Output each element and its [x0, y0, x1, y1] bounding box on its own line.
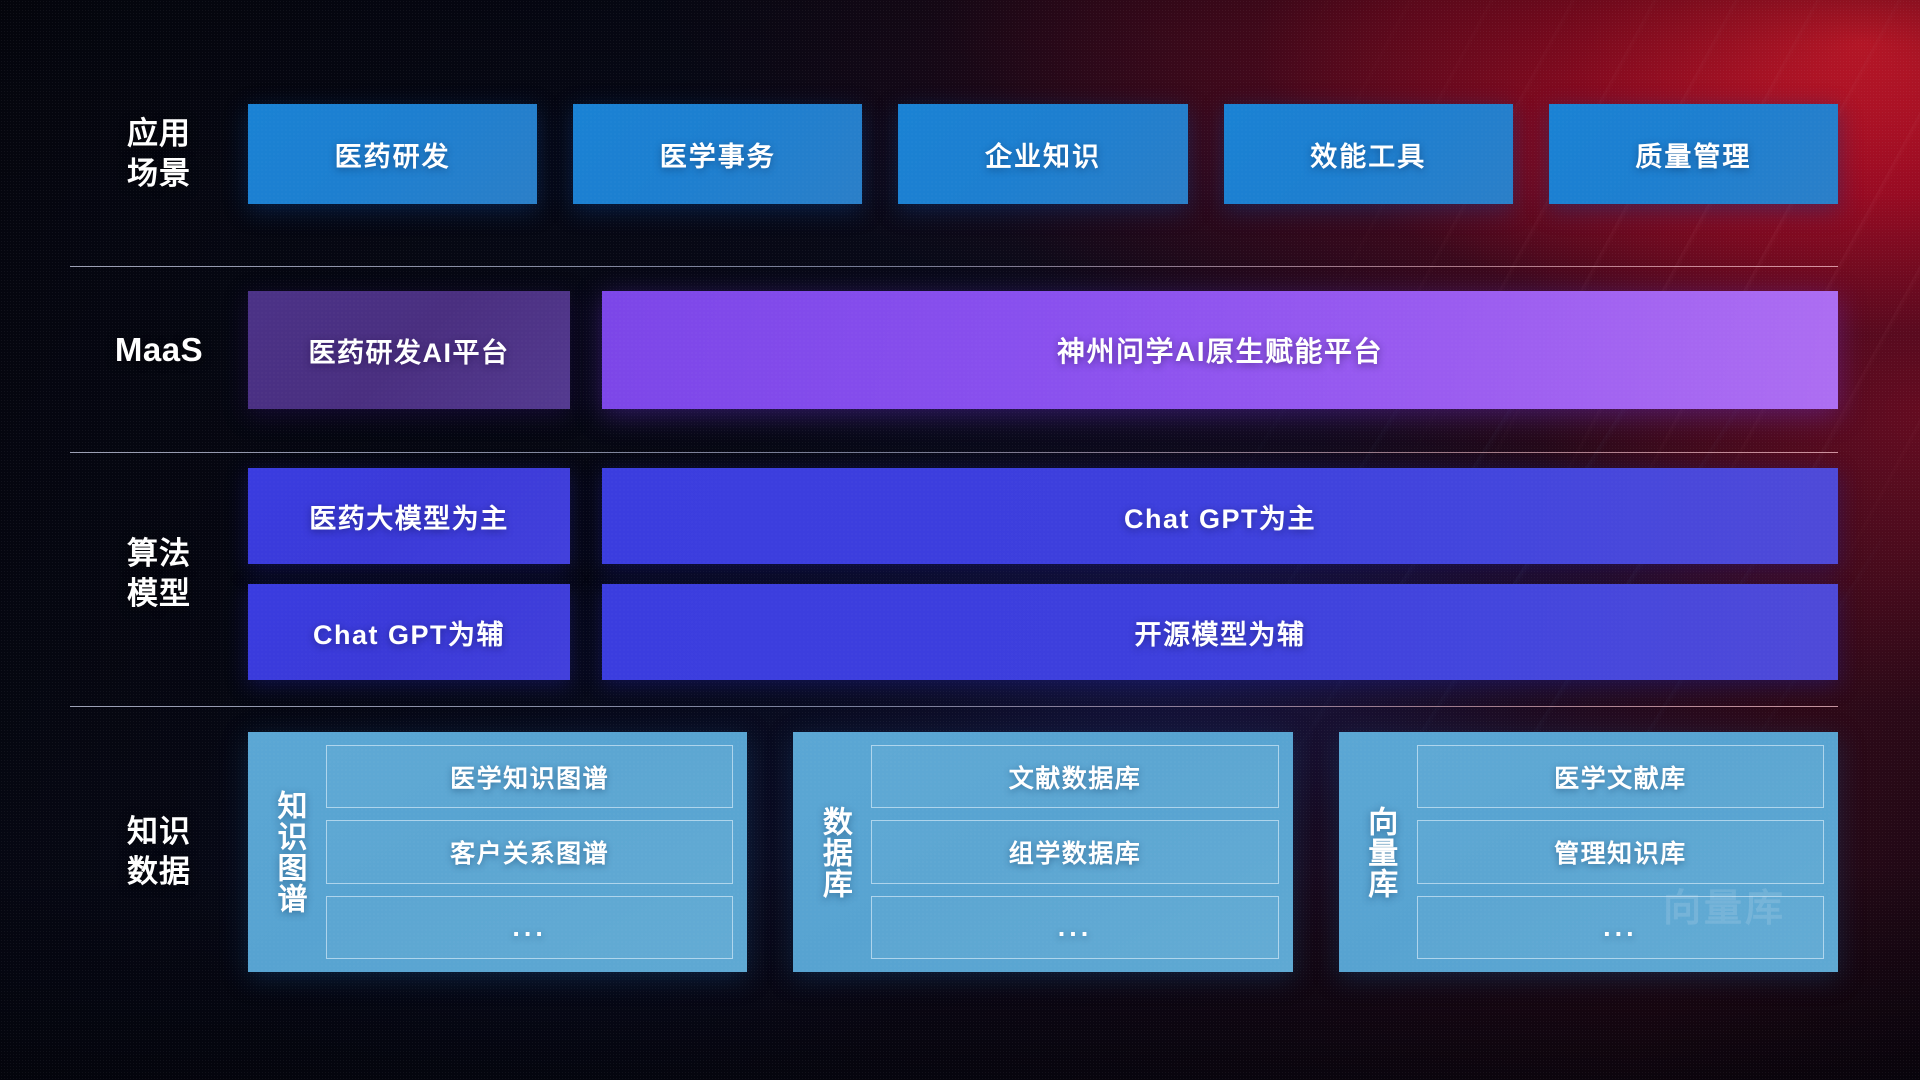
slide-canvas: 应用 场景 医药研发 医学事务 企业知识 效能工具 — [0, 0, 1920, 1080]
knowledge-item-omics-database[interactable]: 组学数据库 — [871, 820, 1278, 883]
knowledge-item-customer-relation-graph[interactable]: 客户关系图谱 — [326, 820, 733, 883]
scenario-label: 医学事务 — [660, 135, 776, 174]
row-application-scenarios: 应用 场景 医药研发 医学事务 企业知识 效能工具 — [70, 104, 1838, 204]
scenario-box-list: 医药研发 医学事务 企业知识 效能工具 质量管理 — [248, 104, 1838, 204]
algorithm-model-line-primary: 医药大模型为主 Chat GPT为主 — [248, 468, 1838, 564]
knowledge-item-more[interactable]: ... — [871, 896, 1278, 959]
algo-box-chatgpt-secondary[interactable]: Chat GPT为辅 — [248, 584, 570, 680]
knowledge-item-more[interactable]: ... — [1417, 896, 1824, 959]
row-body-maas: 医药研发AI平台 神州问学AI原生赋能平台 — [248, 291, 1838, 409]
row-label-knowledge-data: 知识 数据 — [70, 812, 248, 891]
maas-box-drug-rd-ai-platform[interactable]: 医药研发AI平台 — [248, 291, 570, 409]
knowledge-group-vector-store[interactable]: 向量库 医学文献库 管理知识库 ... 向量库 — [1339, 732, 1838, 972]
row-maas: MaaS 医药研发AI平台 神州问学AI原生赋能平台 — [70, 291, 1838, 409]
algo-label: Chat GPT为辅 — [313, 613, 505, 652]
divider-after-algorithm-models — [70, 706, 1838, 707]
knowledge-item-management-knowledge-store[interactable]: 管理知识库 — [1417, 820, 1824, 883]
knowledge-group-vertical-label: 向量库 — [1349, 745, 1411, 959]
algorithm-model-stack: 医药大模型为主 Chat GPT为主 Chat GPT为辅 开源模型为辅 — [248, 468, 1838, 680]
scenario-box-quality-management[interactable]: 质量管理 — [1549, 104, 1838, 204]
scenario-label: 质量管理 — [1635, 135, 1751, 174]
algo-label: 开源模型为辅 — [1135, 613, 1306, 652]
architecture-diagram: 应用 场景 医药研发 医学事务 企业知识 效能工具 — [0, 0, 1920, 1080]
knowledge-item-list: 医学文献库 管理知识库 ... — [1411, 745, 1824, 959]
scenario-label: 效能工具 — [1310, 135, 1426, 174]
algo-label: 医药大模型为主 — [309, 497, 509, 536]
row-algorithm-models: 算法 模型 医药大模型为主 Chat GPT为主 Chat GPT为辅 — [70, 468, 1838, 680]
scenario-box-drug-rd[interactable]: 医药研发 — [248, 104, 537, 204]
row-body-knowledge-data: 知识图谱 医学知识图谱 客户关系图谱 ... 数据库 文献数据库 组学数据库 — [248, 732, 1838, 972]
knowledge-item-list: 文献数据库 组学数据库 ... — [865, 745, 1278, 959]
knowledge-item-medical-knowledge-graph[interactable]: 医学知识图谱 — [326, 745, 733, 808]
divider-after-application-scenarios — [70, 266, 1838, 267]
scenario-label: 医药研发 — [335, 135, 451, 174]
knowledge-item-literature-database[interactable]: 文献数据库 — [871, 745, 1278, 808]
scenario-label: 企业知识 — [985, 135, 1101, 174]
scenario-box-medical-affairs[interactable]: 医学事务 — [573, 104, 862, 204]
scenario-box-efficiency-tools[interactable]: 效能工具 — [1224, 104, 1513, 204]
row-knowledge-data: 知识 数据 知识图谱 医学知识图谱 客户关系图谱 ... 数据库 — [70, 732, 1838, 972]
row-body-algorithm-models: 医药大模型为主 Chat GPT为主 Chat GPT为辅 开源模型为辅 — [248, 468, 1838, 680]
knowledge-group-knowledge-graph[interactable]: 知识图谱 医学知识图谱 客户关系图谱 ... — [248, 732, 747, 972]
divider-after-maas — [70, 452, 1838, 453]
knowledge-group-vertical-label: 知识图谱 — [258, 745, 320, 959]
knowledge-item-medical-literature-store[interactable]: 医学文献库 — [1417, 745, 1824, 808]
algo-label: Chat GPT为主 — [1124, 497, 1316, 536]
knowledge-group-list: 知识图谱 医学知识图谱 客户关系图谱 ... 数据库 文献数据库 组学数据库 — [248, 732, 1838, 972]
scenario-box-enterprise-knowledge[interactable]: 企业知识 — [898, 104, 1187, 204]
maas-label: 神州问学AI原生赋能平台 — [1057, 330, 1383, 370]
knowledge-item-more[interactable]: ... — [326, 896, 733, 959]
row-body-application-scenarios: 医药研发 医学事务 企业知识 效能工具 质量管理 — [248, 104, 1838, 204]
algorithm-model-line-secondary: Chat GPT为辅 开源模型为辅 — [248, 584, 1838, 680]
row-label-maas: MaaS — [70, 329, 248, 371]
maas-box-shenzhou-wenxue-platform[interactable]: 神州问学AI原生赋能平台 — [602, 291, 1838, 409]
maas-label: 医药研发AI平台 — [309, 331, 510, 370]
row-label-algorithm-models: 算法 模型 — [70, 534, 248, 613]
maas-platform-list: 医药研发AI平台 神州问学AI原生赋能平台 — [248, 291, 1838, 409]
knowledge-group-vertical-label: 数据库 — [803, 745, 865, 959]
row-label-application-scenarios: 应用 场景 — [70, 114, 248, 193]
algo-box-chatgpt-primary[interactable]: Chat GPT为主 — [602, 468, 1838, 564]
algo-box-opensource-secondary[interactable]: 开源模型为辅 — [602, 584, 1838, 680]
algo-box-pharma-llm-primary[interactable]: 医药大模型为主 — [248, 468, 570, 564]
knowledge-group-database[interactable]: 数据库 文献数据库 组学数据库 ... — [793, 732, 1292, 972]
knowledge-item-list: 医学知识图谱 客户关系图谱 ... — [320, 745, 733, 959]
